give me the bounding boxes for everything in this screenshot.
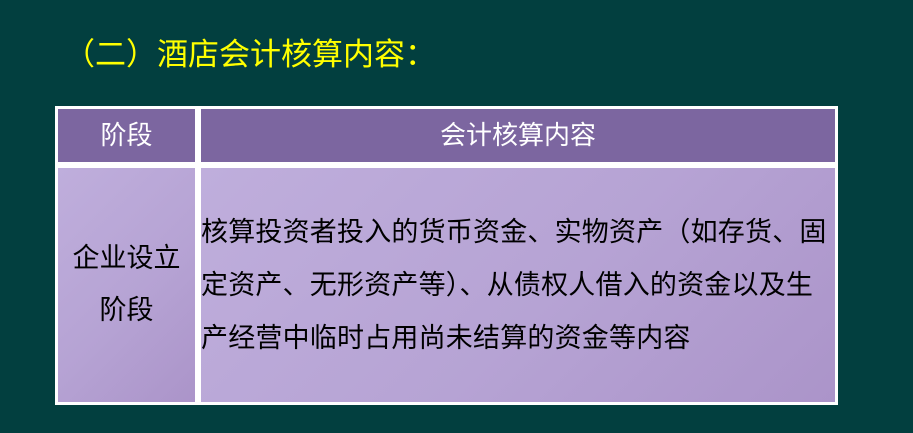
column-header-stage-label: 阶段 xyxy=(58,119,195,153)
table-header-row: 阶段 会计核算内容 xyxy=(55,106,838,165)
page-title: （二）酒店会计核算内容： xyxy=(64,34,436,76)
cell-detail: 核算投资者投入的货币资金、实物资产（如存货、固定资产、无形资产等）、从债权人借入… xyxy=(198,165,838,405)
column-header-stage: 阶段 xyxy=(55,106,198,165)
table-row: 企业设立阶段 核算投资者投入的货币资金、实物资产（如存货、固定资产、无形资产等）… xyxy=(55,165,838,405)
cell-detail-text: 核算投资者投入的货币资金、实物资产（如存货、固定资产、无形资产等）、从债权人借入… xyxy=(201,206,835,365)
cell-stage-text: 企业设立阶段 xyxy=(58,233,195,337)
table-header: 阶段 会计核算内容 xyxy=(55,106,838,165)
column-header-detail-label: 会计核算内容 xyxy=(201,119,835,153)
table-body: 企业设立阶段 核算投资者投入的货币资金、实物资产（如存货、固定资产、无形资产等）… xyxy=(55,165,838,405)
column-header-detail: 会计核算内容 xyxy=(198,106,838,165)
slide-canvas: （二）酒店会计核算内容： 阶段 会计核算内容 企业设立阶段 核算投 xyxy=(0,0,913,433)
accounting-content-table: 阶段 会计核算内容 企业设立阶段 核算投资者投入的货币资金、实物资产（如存货、固… xyxy=(55,106,838,405)
cell-stage: 企业设立阶段 xyxy=(55,165,198,405)
